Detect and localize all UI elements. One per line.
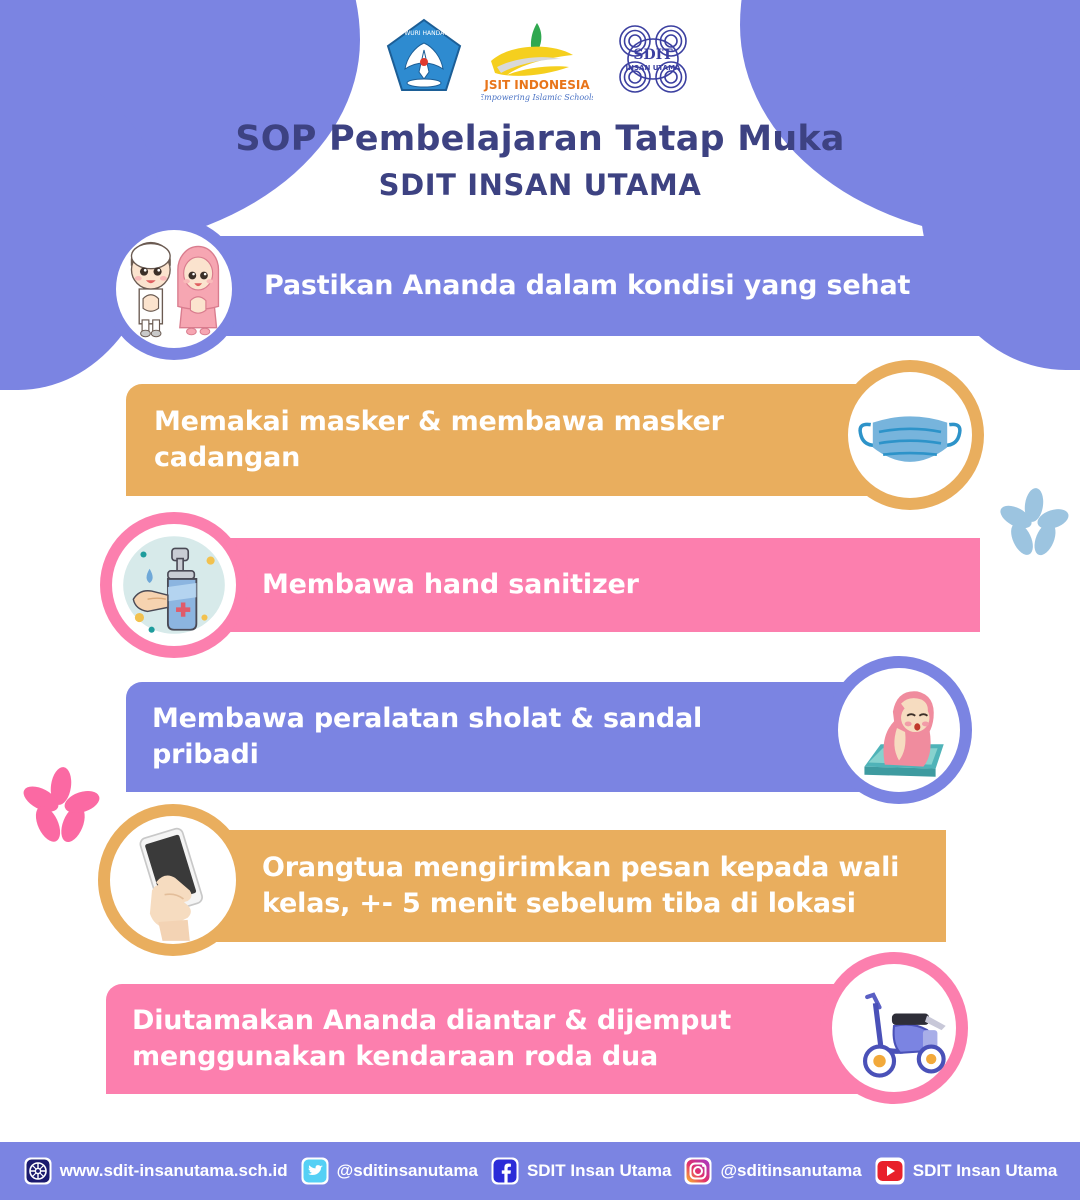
infographic-canvas: TUT WURI HANDAYANI JSIT INDONESIA Empowe…: [0, 0, 1080, 1200]
praying-girl-icon: [826, 656, 972, 804]
twitter-icon: [300, 1156, 330, 1186]
svg-text:TUT WURI HANDAYANI: TUT WURI HANDAYANI: [390, 30, 458, 37]
tut-wuri-handayani-logo: TUT WURI HANDAYANI: [385, 17, 463, 103]
list-item: Membawa peralatan sholat & sandal pribad…: [0, 666, 1080, 816]
scooter-icon: [820, 952, 968, 1104]
sop-list: Pastikan Ananda dalam kondisi yang sehat: [0, 222, 1080, 1118]
row-bar: Membawa peralatan sholat & sandal pribad…: [126, 682, 912, 792]
footer-label-youtube: SDIT Insan Utama: [913, 1161, 1058, 1181]
svg-text:SDIT: SDIT: [633, 47, 673, 63]
face-mask-icon: [836, 360, 984, 510]
surgical-mask-illustration: [848, 372, 972, 498]
row-bar: Diutamakan Ananda diantar & dijemput men…: [106, 984, 906, 1094]
praying-girl-illustration: [838, 668, 960, 792]
hand-holding-phone-icon: [98, 804, 248, 956]
footer-label-instagram: @sditinsanutama: [720, 1161, 861, 1181]
page-subtitle: SDIT INSAN UTAMA: [0, 168, 1080, 203]
footer-item-facebook[interactable]: SDIT Insan Utama: [490, 1156, 672, 1186]
svg-text:JSIT INDONESIA: JSIT INDONESIA: [483, 78, 590, 92]
hand-sanitizer-icon: [100, 512, 248, 658]
svg-text:Empowering Islamic Schools: Empowering Islamic Schools: [481, 93, 593, 102]
two-children-illustration: [116, 230, 232, 348]
row-bar: Pastikan Ananda dalam kondisi yang sehat: [172, 236, 980, 336]
scooter-illustration: [832, 964, 956, 1092]
footer-label-website: www.sdit-insanutama.sch.id: [60, 1161, 288, 1181]
instagram-icon: [683, 1156, 713, 1186]
youtube-icon: [874, 1156, 906, 1186]
row-bar: Orangtua mengirimkan pesan kepada wali k…: [166, 830, 946, 942]
row-label: Diutamakan Ananda diantar & dijemput men…: [132, 1003, 810, 1074]
facebook-icon: [490, 1156, 520, 1186]
sdit-insan-utama-logo: SDIT INSAN UTAMA: [611, 19, 695, 101]
list-item: Diutamakan Ananda diantar & dijemput men…: [0, 968, 1080, 1118]
row-label: Membawa hand sanitizer: [262, 567, 639, 603]
footer-item-instagram[interactable]: @sditinsanutama: [683, 1156, 861, 1186]
footer-item-twitter[interactable]: @sditinsanutama: [300, 1156, 478, 1186]
row-label: Orangtua mengirimkan pesan kepada wali k…: [262, 850, 926, 921]
svg-text:INSAN UTAMA: INSAN UTAMA: [626, 64, 682, 72]
footer-social-bar: www.sdit-insanutama.sch.id @sditinsanuta…: [0, 1142, 1080, 1200]
jsit-indonesia-logo: JSIT INDONESIA Empowering Islamic School…: [481, 17, 593, 103]
list-item: Pastikan Ananda dalam kondisi yang sehat: [0, 222, 1080, 370]
phone-in-hand-illustration: [110, 816, 236, 944]
row-label: Memakai masker & membawa masker cadangan: [154, 404, 820, 475]
row-label: Pastikan Ananda dalam kondisi yang sehat: [264, 268, 910, 304]
two-children-icon: [104, 218, 244, 360]
hand-sanitizer-illustration: [112, 524, 236, 646]
page-title: SOP Pembelajaran Tatap Muka: [0, 118, 1080, 162]
footer-label-facebook: SDIT Insan Utama: [527, 1161, 672, 1181]
list-item: Orangtua mengirimkan pesan kepada wali k…: [0, 816, 1080, 968]
title-block: SOP Pembelajaran Tatap Muka SDIT INSAN U…: [0, 118, 1080, 203]
list-item: Membawa hand sanitizer: [0, 518, 1080, 666]
footer-label-twitter: @sditinsanutama: [337, 1161, 478, 1181]
footer-item-youtube[interactable]: SDIT Insan Utama: [874, 1156, 1058, 1186]
logo-strip: TUT WURI HANDAYANI JSIT INDONESIA Empowe…: [0, 14, 1080, 106]
row-bar: Memakai masker & membawa masker cadangan: [126, 384, 916, 496]
row-bar: Membawa hand sanitizer: [168, 538, 980, 632]
list-item: Memakai masker & membawa masker cadangan: [0, 370, 1080, 518]
row-label: Membawa peralatan sholat & sandal pribad…: [152, 701, 816, 772]
website-icon: [23, 1156, 53, 1186]
footer-item-website[interactable]: www.sdit-insanutama.sch.id: [23, 1156, 288, 1186]
